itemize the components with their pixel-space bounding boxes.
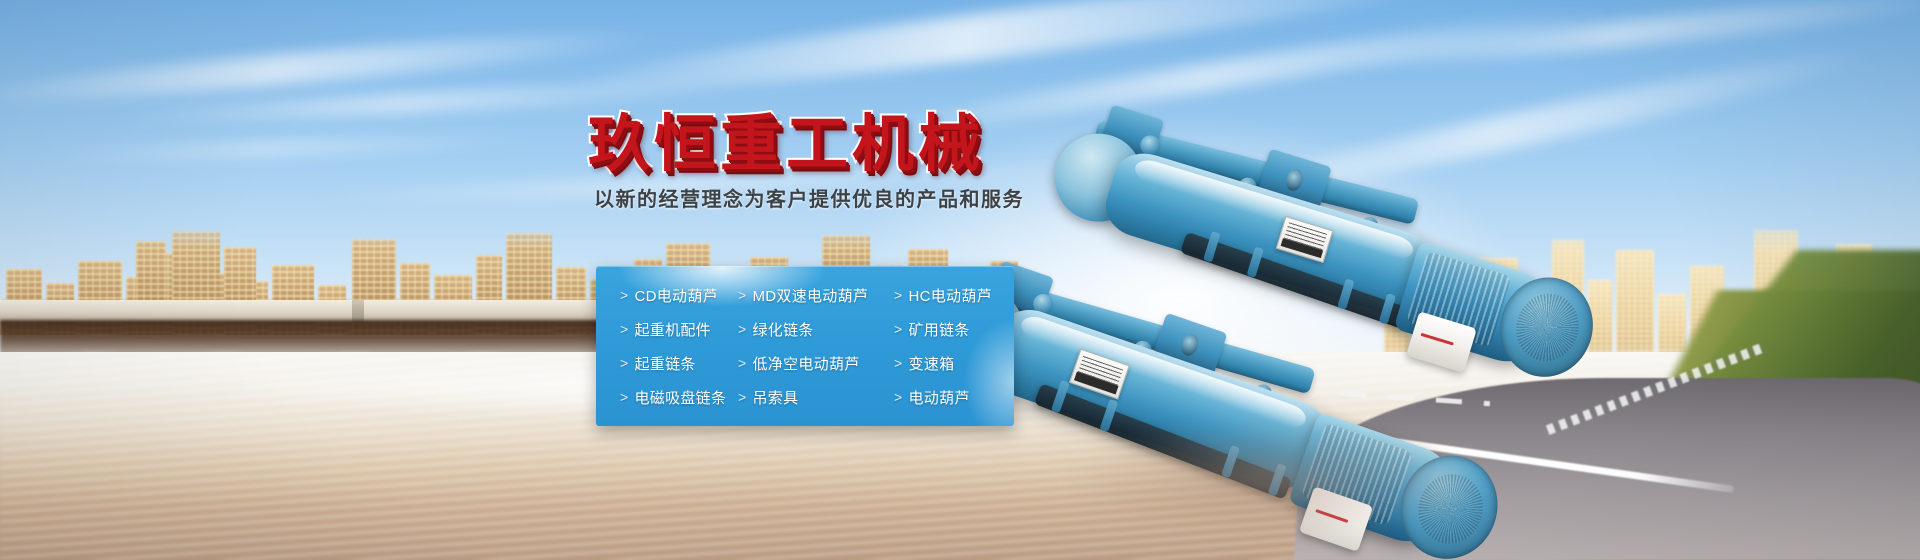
page-title: 玖恒重工机械 <box>588 112 1068 177</box>
product-category-label: 电动葫芦 <box>908 387 969 408</box>
chevron-right-icon: > <box>894 355 902 371</box>
product-category-link[interactable]: >MD双速电动葫芦 <box>738 285 876 306</box>
product-category-label: 电磁吸盘链条 <box>634 387 726 408</box>
product-category-label: 起重链条 <box>634 353 695 374</box>
product-category-label: 低净空电动葫芦 <box>752 353 859 374</box>
product-category-link[interactable]: >低净空电动葫芦 <box>738 353 876 374</box>
product-category-label: 起重机配件 <box>634 319 711 340</box>
chevron-right-icon: > <box>894 287 902 303</box>
chevron-right-icon: > <box>738 287 746 303</box>
product-category-link[interactable]: >绿化链条 <box>738 319 876 340</box>
product-category-label: 吊索具 <box>752 387 798 408</box>
chevron-right-icon: > <box>738 389 746 405</box>
chevron-right-icon: > <box>738 355 746 371</box>
chevron-right-icon: > <box>894 321 902 337</box>
product-category-link[interactable]: >矿用链条 <box>876 319 1014 340</box>
product-category-link[interactable]: >变速箱 <box>876 353 1014 374</box>
chevron-right-icon: > <box>738 321 746 337</box>
promo-banner: 玖恒重工机械 以新的经营理念为客户提供优良的产品和服务 >CD电动葫芦>MD双速… <box>0 0 1920 560</box>
motion-blur-tail <box>1060 420 1480 540</box>
chevron-right-icon: > <box>620 287 628 303</box>
product-category-link[interactable]: >HC电动葫芦 <box>876 285 1014 306</box>
chevron-right-icon: > <box>620 321 628 337</box>
product-category-link[interactable]: >起重链条 <box>620 353 738 374</box>
product-category-list: >CD电动葫芦>MD双速电动葫芦>HC电动葫芦>起重机配件>绿化链条>矿用链条>… <box>596 266 1014 426</box>
product-category-link[interactable]: >电磁吸盘链条 <box>620 387 738 408</box>
product-category-label: 变速箱 <box>908 353 954 374</box>
product-category-link[interactable]: >电动葫芦 <box>876 387 1014 408</box>
product-category-label: MD双速电动葫芦 <box>752 285 868 306</box>
product-category-label: 绿化链条 <box>752 319 813 340</box>
product-category-link[interactable]: >CD电动葫芦 <box>620 285 738 306</box>
product-category-panel: >CD电动葫芦>MD双速电动葫芦>HC电动葫芦>起重机配件>绿化链条>矿用链条>… <box>596 266 1014 426</box>
product-category-label: 矿用链条 <box>908 319 969 340</box>
product-category-label: CD电动葫芦 <box>634 285 717 306</box>
chevron-right-icon: > <box>620 355 628 371</box>
chevron-right-icon: > <box>894 389 902 405</box>
product-category-label: HC电动葫芦 <box>908 285 991 306</box>
page-subtitle: 以新的经营理念为客户提供优良的产品和服务 <box>594 183 1114 212</box>
product-category-link[interactable]: >起重机配件 <box>620 319 738 340</box>
product-category-link[interactable]: >吊索具 <box>738 387 876 408</box>
chevron-right-icon: > <box>620 389 628 405</box>
